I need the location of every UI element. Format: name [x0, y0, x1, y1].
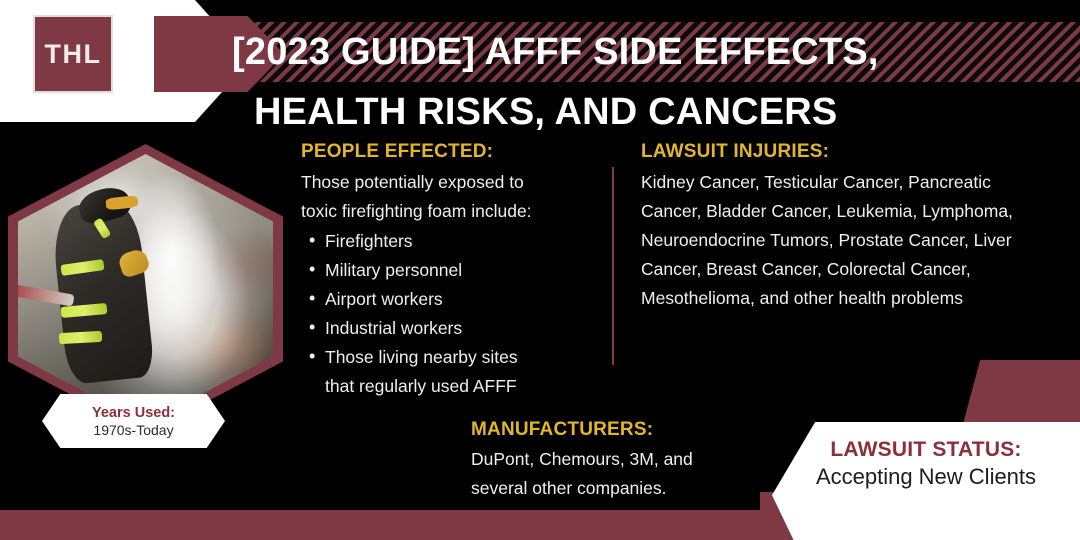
manufacturers-line-2: several other companies.: [471, 474, 771, 503]
lawsuit-injuries-heading: LAWSUIT INJURIES:: [641, 141, 1021, 163]
manufacturers-section: MANUFACTURERS: DuPont, Chemours, 3M, and…: [471, 419, 771, 502]
list-item: Military personnel: [301, 256, 601, 285]
infographic-canvas: THL [2023 GUIDE] AFFF SIDE EFFECTS, HEAL…: [0, 0, 1080, 540]
list-item: Firefighters: [301, 227, 601, 256]
column-divider: [612, 167, 614, 365]
lawsuit-status-panel: LAWSUIT STATUS: Accepting New Clients: [772, 422, 1080, 540]
people-effected-section: PEOPLE EFFECTED: Those potentially expos…: [301, 141, 601, 401]
people-effected-heading: PEOPLE EFFECTED:: [301, 141, 601, 163]
lawsuit-status-heading: LAWSUIT STATUS:: [830, 438, 1021, 462]
lawsuit-injuries-body: Kidney Cancer, Testicular Cancer, Pancre…: [641, 168, 1021, 313]
thl-logo-text: THL: [45, 39, 102, 70]
manufacturers-heading: MANUFACTURERS:: [471, 419, 771, 441]
people-effected-intro-line-2: toxic firefighting foam include:: [301, 197, 601, 226]
years-used-value: 1970s-Today: [93, 422, 173, 438]
title-line-2: HEALTH RISKS, AND CANCERS: [232, 82, 1080, 142]
people-effected-intro-line-1: Those potentially exposed to: [301, 168, 601, 197]
page-title: [2023 GUIDE] AFFF SIDE EFFECTS, HEALTH R…: [232, 22, 1080, 142]
lawsuit-injuries-section: LAWSUIT INJURIES: Kidney Cancer, Testicu…: [641, 141, 1021, 313]
list-item: Industrial workers: [301, 314, 601, 343]
years-used-label: Years Used:: [92, 405, 175, 421]
years-used-badge: Years Used: 1970s-Today: [42, 394, 225, 448]
thl-logo[interactable]: THL: [33, 15, 113, 93]
list-item-continuation: that regularly used AFFF: [301, 372, 601, 401]
list-item: Those living nearby sites: [301, 343, 601, 372]
people-effected-list: Firefighters Military personnel Airport …: [301, 227, 601, 372]
title-line-1: [2023 GUIDE] AFFF SIDE EFFECTS,: [232, 22, 1080, 82]
list-item: Airport workers: [301, 285, 601, 314]
lawsuit-status-value: Accepting New Clients: [816, 464, 1036, 490]
manufacturers-line-1: DuPont, Chemours, 3M, and: [471, 445, 771, 474]
